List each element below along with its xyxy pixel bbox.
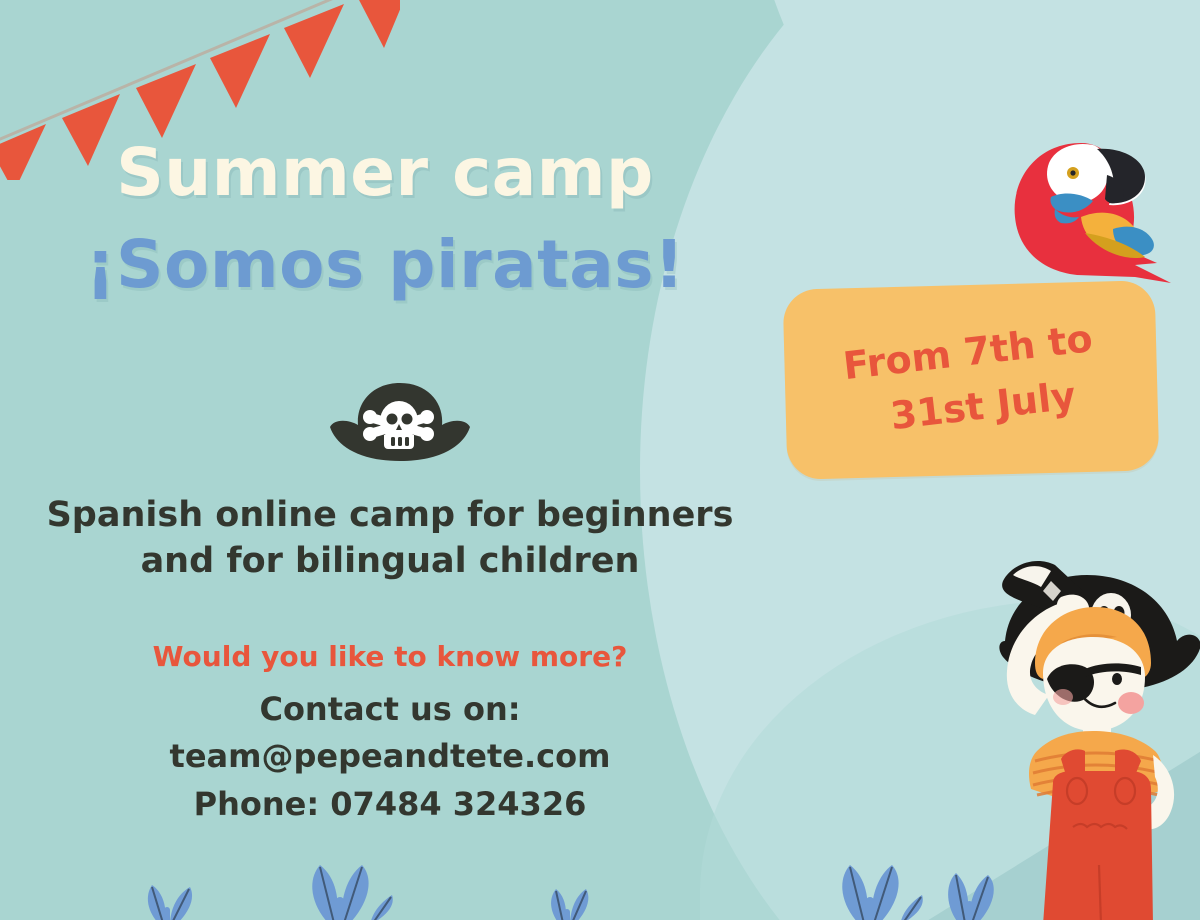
pirate-hat-skull-icon (322, 375, 478, 470)
summer-camp-poster: Summer camp ¡Somos piratas! (0, 0, 1200, 920)
contact-label: Contact us on: (0, 686, 780, 733)
leaf-sprout-icon-right (840, 855, 1200, 920)
contact-email[interactable]: team@pepeandtete.com (0, 733, 780, 780)
camp-description: Spanish online camp for beginners and fo… (0, 492, 780, 584)
page-subtitle: ¡Somos piratas! (0, 232, 770, 298)
poster-headings: Summer camp ¡Somos piratas! (0, 140, 770, 298)
date-badge: From 7th to 31st July (783, 280, 1160, 480)
camp-description-line-2: and for bilingual children (0, 538, 780, 584)
contact-block: Contact us on: team@pepeandtete.com Phon… (0, 686, 780, 828)
camp-description-line-1: Spanish online camp for beginners (0, 492, 780, 538)
page-title: Summer camp (0, 140, 770, 206)
parrot-icon (985, 105, 1190, 310)
contact-phone[interactable]: Phone: 07484 324326 (0, 781, 780, 828)
cta-text: Would you like to know more? (0, 640, 780, 673)
leaf-sprout-icon (40, 855, 680, 920)
